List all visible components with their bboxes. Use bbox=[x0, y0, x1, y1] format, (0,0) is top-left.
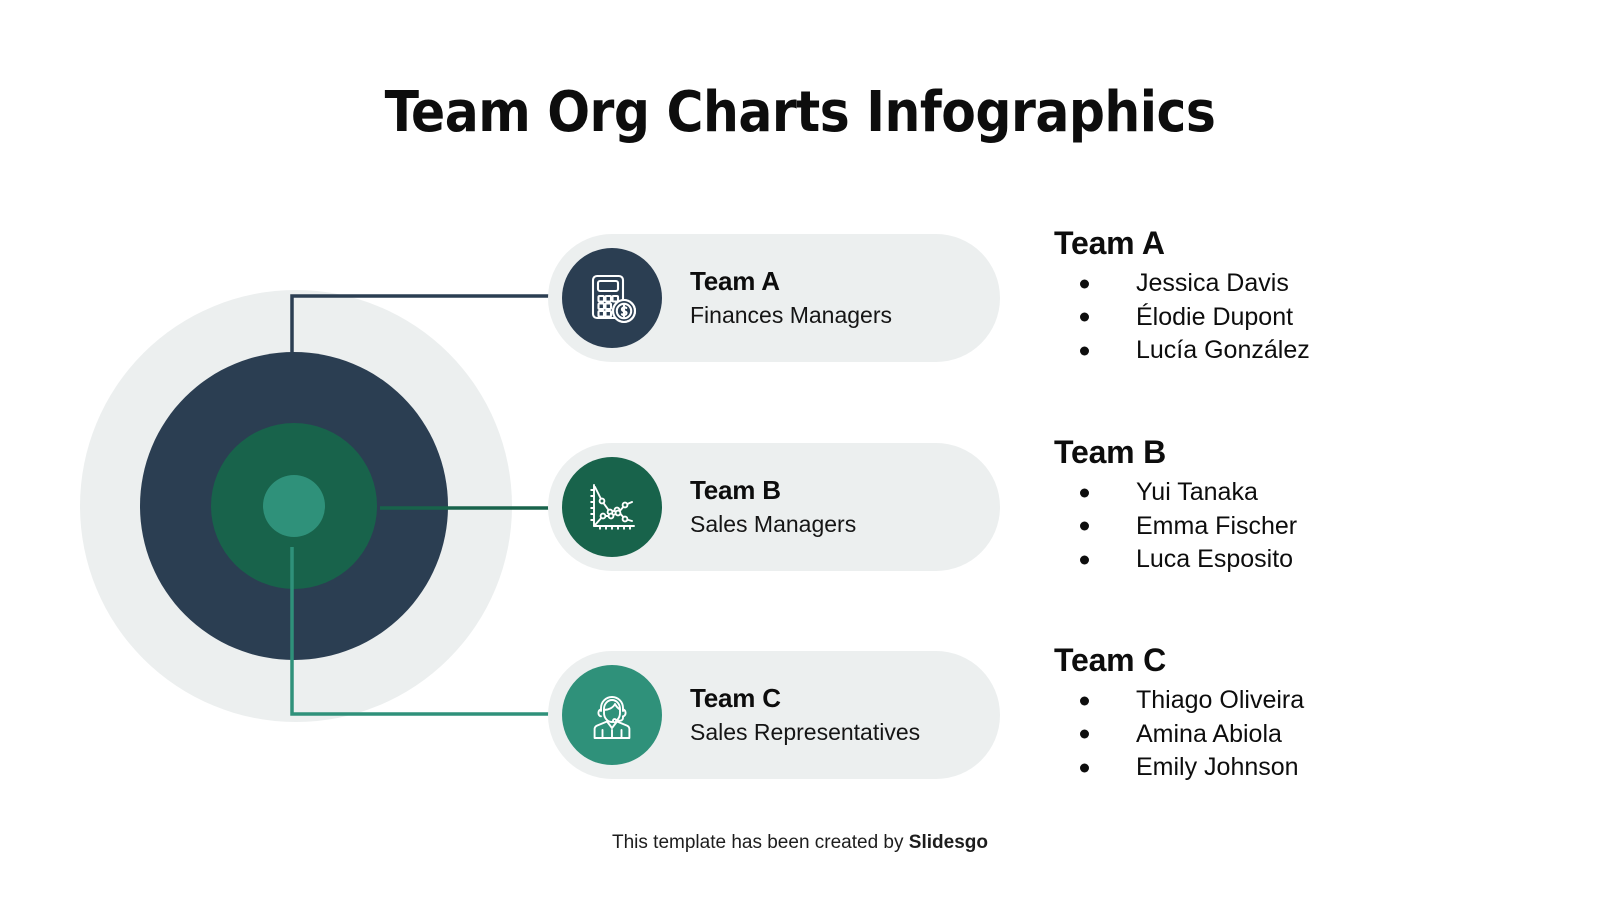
list-item: Yui Tanaka bbox=[1054, 477, 1524, 508]
team-b-member-list: Yui Tanaka Emma Fischer Luca Esposito bbox=[1054, 477, 1524, 575]
card-team-b-text: Team B Sales Managers bbox=[690, 474, 856, 540]
bullet-icon bbox=[1080, 555, 1089, 564]
card-team-b[interactable]: Team B Sales Managers bbox=[548, 443, 1000, 571]
ring-core-teal bbox=[263, 475, 325, 537]
bullet-icon bbox=[1080, 730, 1089, 739]
list-item: Emily Johnson bbox=[1054, 752, 1524, 783]
card-team-a-text: Team A Finances Managers bbox=[690, 265, 892, 331]
bullet-icon bbox=[1080, 313, 1089, 322]
bullet-icon bbox=[1080, 697, 1089, 706]
card-team-c-title: Team C bbox=[690, 682, 920, 715]
member-name: Jessica Davis bbox=[1136, 269, 1289, 297]
slidesgo-brand-link[interactable]: Slidesgo bbox=[909, 832, 988, 853]
card-team-c[interactable]: Team C Sales Representatives bbox=[548, 651, 1000, 779]
bullet-icon bbox=[1080, 489, 1089, 498]
calculator-money-icon bbox=[562, 248, 662, 348]
member-name: Amina Abiola bbox=[1136, 720, 1282, 748]
member-name: Emily Johnson bbox=[1136, 753, 1299, 781]
bullet-icon bbox=[1080, 763, 1089, 772]
list-item: Jessica Davis bbox=[1054, 268, 1524, 299]
team-c-heading: Team C bbox=[1054, 641, 1524, 679]
card-team-b-title: Team B bbox=[690, 474, 856, 507]
headset-agent-icon bbox=[562, 665, 662, 765]
member-name: Emma Fischer bbox=[1136, 512, 1297, 540]
card-team-c-text: Team C Sales Representatives bbox=[690, 682, 920, 748]
member-name: Lucía González bbox=[1136, 336, 1310, 364]
bullet-icon bbox=[1080, 280, 1089, 289]
list-item: Lucía González bbox=[1054, 335, 1524, 366]
member-name: Thiago Oliveira bbox=[1136, 686, 1304, 714]
concentric-ring-diagram bbox=[80, 290, 512, 722]
card-team-a[interactable]: Team A Finances Managers bbox=[548, 234, 1000, 362]
list-item: Élodie Dupont bbox=[1054, 302, 1524, 333]
list-item: Luca Esposito bbox=[1054, 544, 1524, 575]
card-team-b-subtitle: Sales Managers bbox=[690, 510, 856, 540]
slide-canvas: Team Org Charts Infographics bbox=[0, 0, 1600, 900]
list-item: Thiago Oliveira bbox=[1054, 685, 1524, 716]
team-a-heading: Team A bbox=[1054, 224, 1524, 262]
card-team-c-subtitle: Sales Representatives bbox=[690, 718, 920, 748]
team-b-heading: Team B bbox=[1054, 433, 1524, 471]
team-c-member-list: Thiago Oliveira Amina Abiola Emily Johns… bbox=[1054, 685, 1524, 783]
team-b-member-block: Team B Yui Tanaka Emma Fischer Luca Espo… bbox=[1054, 433, 1524, 577]
card-team-a-subtitle: Finances Managers bbox=[690, 301, 892, 331]
footer-text: This template has been created by bbox=[612, 832, 909, 853]
team-c-member-block: Team C Thiago Oliveira Amina Abiola Emil… bbox=[1054, 641, 1524, 785]
line-chart-icon bbox=[562, 457, 662, 557]
member-name: Yui Tanaka bbox=[1136, 478, 1258, 506]
footer-credit: This template has been created by Slides… bbox=[0, 832, 1600, 854]
member-name: Luca Esposito bbox=[1136, 545, 1293, 573]
bullet-icon bbox=[1080, 346, 1089, 355]
list-item: Amina Abiola bbox=[1054, 719, 1524, 750]
bullet-icon bbox=[1080, 522, 1089, 531]
list-item: Emma Fischer bbox=[1054, 511, 1524, 542]
team-a-member-list: Jessica Davis Élodie Dupont Lucía Gonzál… bbox=[1054, 268, 1524, 366]
team-a-member-block: Team A Jessica Davis Élodie Dupont Lucía… bbox=[1054, 224, 1524, 368]
card-team-a-title: Team A bbox=[690, 265, 892, 298]
member-name: Élodie Dupont bbox=[1136, 303, 1293, 331]
page-title: Team Org Charts Infographics bbox=[0, 80, 1600, 145]
